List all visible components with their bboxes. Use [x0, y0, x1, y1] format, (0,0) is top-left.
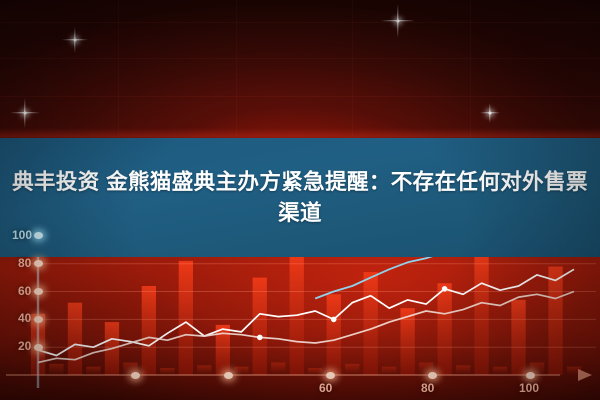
- x-tick-label-60: 60: [319, 381, 332, 395]
- y-tick-label-40: 40: [18, 311, 31, 325]
- x-tick-node-4: [526, 372, 535, 379]
- x-tick-node-1: [224, 372, 233, 379]
- headline-text: 典丰投资 金熊猫盛典主办方紧急提醒：不存在任何对外售票渠道: [12, 167, 588, 229]
- y-tick-label-80: 80: [18, 256, 31, 270]
- y-tick-node-80: [34, 260, 43, 267]
- y-tick-label-60: 60: [18, 284, 31, 298]
- chart-data-point: [442, 286, 448, 292]
- x-tick-node-2: [326, 372, 335, 379]
- x-tick-node-0: [131, 372, 140, 379]
- x-tick-label-80: 80: [421, 381, 434, 395]
- chart-line-white-line-lower: [38, 292, 574, 363]
- y-tick-node-60: [34, 288, 43, 295]
- x-tick-label-100: 100: [519, 381, 539, 395]
- y-tick-node-20: [34, 344, 43, 351]
- y-tick-label-20: 20: [18, 339, 31, 353]
- x-tick-node-3: [428, 372, 437, 379]
- y-tick-node-40: [34, 316, 43, 323]
- chart-data-point: [331, 317, 337, 323]
- headline-banner: 典丰投资 金熊猫盛典主办方紧急提醒：不存在任何对外售票渠道: [0, 138, 600, 257]
- x-axis-arrow-icon: [578, 369, 592, 381]
- y-tick-label-100: 100: [12, 228, 32, 242]
- chart-data-point: [257, 335, 263, 341]
- thumbnail-canvas: 典丰投资 金熊猫盛典主办方紧急提醒：不存在任何对外售票渠道 2040608010…: [0, 0, 600, 400]
